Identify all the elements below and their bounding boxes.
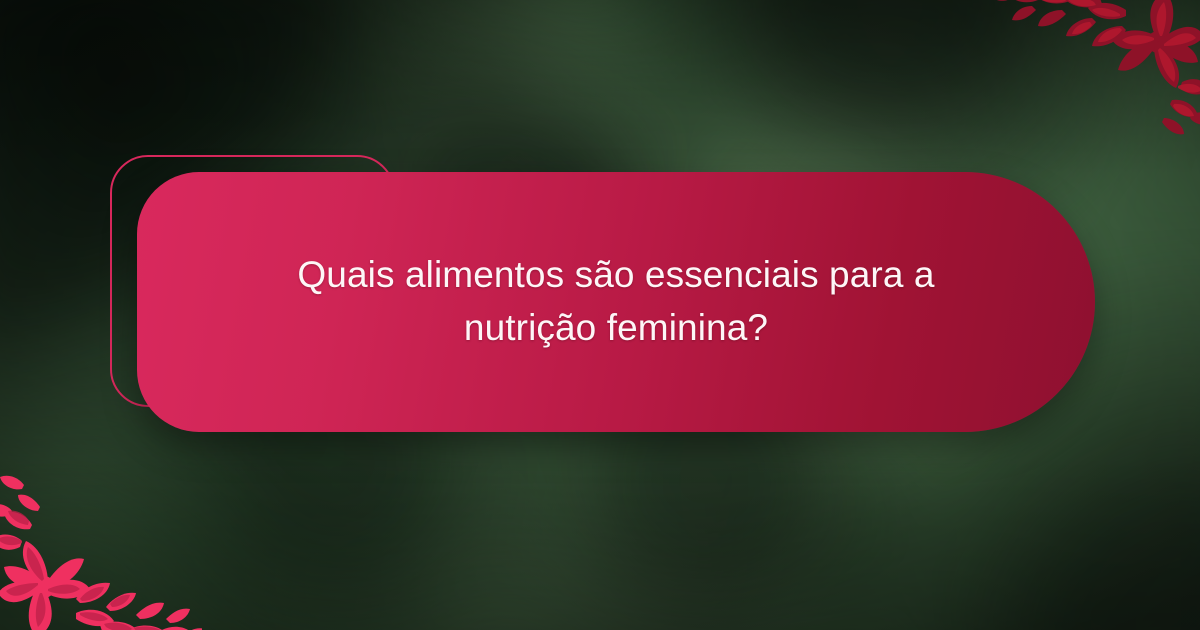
question-card: Quais alimentos são essenciais para a nu… [137,172,1095,432]
page-title: Quais alimentos são essenciais para a nu… [246,249,986,354]
social-card-canvas: Quais alimentos são essenciais para a nu… [0,0,1200,630]
